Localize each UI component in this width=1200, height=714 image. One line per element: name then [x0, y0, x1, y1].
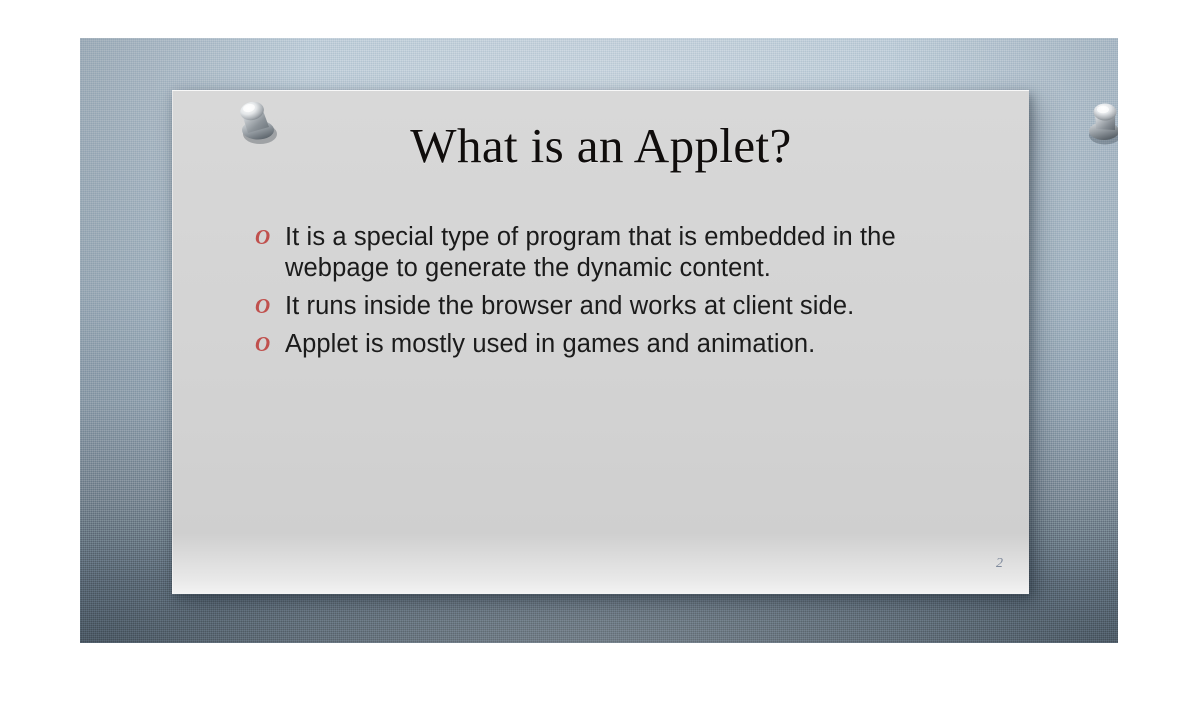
- bullet-item-1: O It is a special type of program that i…: [253, 222, 989, 284]
- bullet-marker-icon: O: [253, 291, 285, 322]
- bullet-item-2: O It runs inside the browser and works a…: [253, 291, 989, 322]
- bullet-text-2: It runs inside the browser and works at …: [285, 291, 920, 322]
- slide-number: 2: [996, 556, 1003, 572]
- bullet-marker-icon: O: [253, 222, 285, 253]
- slide-title: What is an Applet?: [173, 120, 1029, 172]
- page-canvas: What is an Applet? O It is a special typ…: [0, 0, 1200, 714]
- presentation-slide[interactable]: What is an Applet? O It is a special typ…: [80, 38, 1118, 643]
- slide-content-card[interactable]: What is an Applet? O It is a special typ…: [172, 90, 1029, 594]
- bullet-text-1: It is a special type of program that is …: [285, 222, 920, 284]
- bullet-marker-icon: O: [253, 329, 285, 360]
- bullet-text-3: Applet is mostly used in games and anima…: [285, 329, 920, 360]
- bullet-list: O It is a special type of program that i…: [253, 222, 989, 367]
- bullet-item-3: O Applet is mostly used in games and ani…: [253, 329, 989, 360]
- pushpin-icon: [1077, 96, 1118, 154]
